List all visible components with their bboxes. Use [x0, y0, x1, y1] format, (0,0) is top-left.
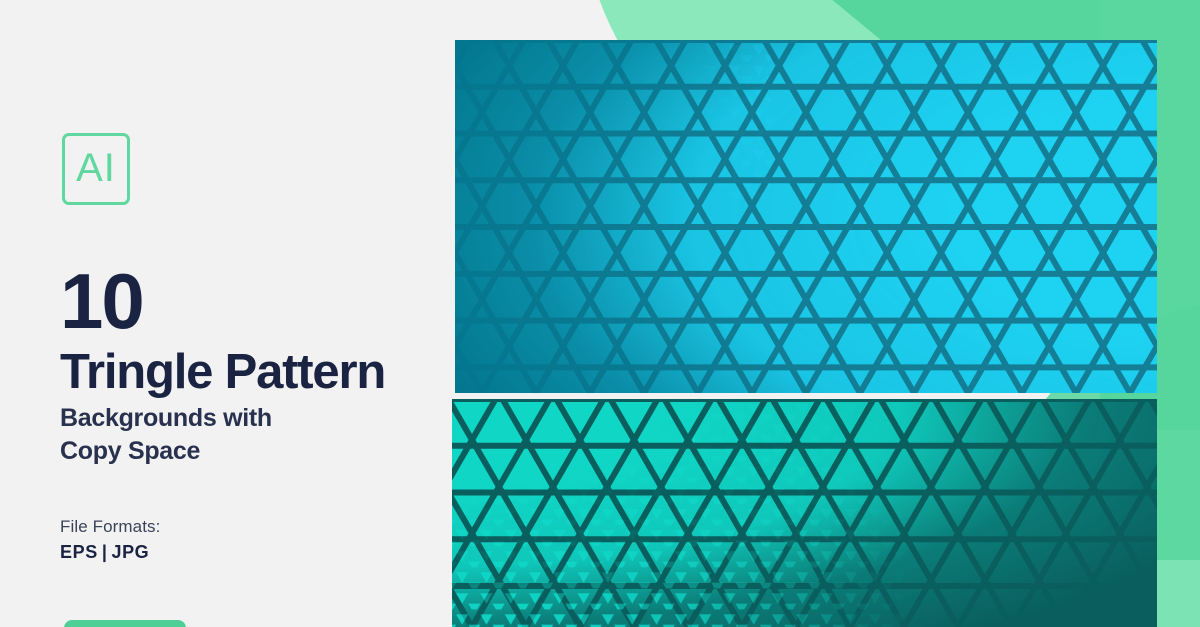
triangle-pattern-preview-top[interactable] [455, 40, 1157, 393]
triangle-pattern-preview-bottom[interactable] [450, 399, 1157, 627]
file-formats-value: EPS|JPG [60, 542, 149, 563]
file-format-separator: | [98, 542, 112, 562]
pattern-top-svg [455, 40, 1157, 393]
file-format-jpg: JPG [111, 542, 149, 562]
page-subtitle: Backgrounds with Copy Space [60, 402, 272, 467]
cta-button[interactable] [64, 620, 186, 627]
poster-canvas: AI 10 Tringle Pattern Backgrounds with C… [0, 0, 1200, 627]
pack-count: 10 [60, 262, 143, 340]
file-format-eps: EPS [60, 542, 98, 562]
info-panel: AI 10 Tringle Pattern Backgrounds with C… [0, 0, 452, 627]
green-blob-bottom-strip [1150, 560, 1200, 627]
page-title: Tringle Pattern [60, 348, 385, 397]
page-subtitle-line2: Copy Space [60, 435, 272, 468]
ai-badge-label: AI [76, 148, 116, 188]
page-subtitle-line1: Backgrounds with [60, 402, 272, 435]
file-formats-label: File Formats: [60, 517, 160, 537]
ai-file-icon: AI [62, 133, 130, 205]
pattern-bottom-svg [450, 399, 1157, 627]
